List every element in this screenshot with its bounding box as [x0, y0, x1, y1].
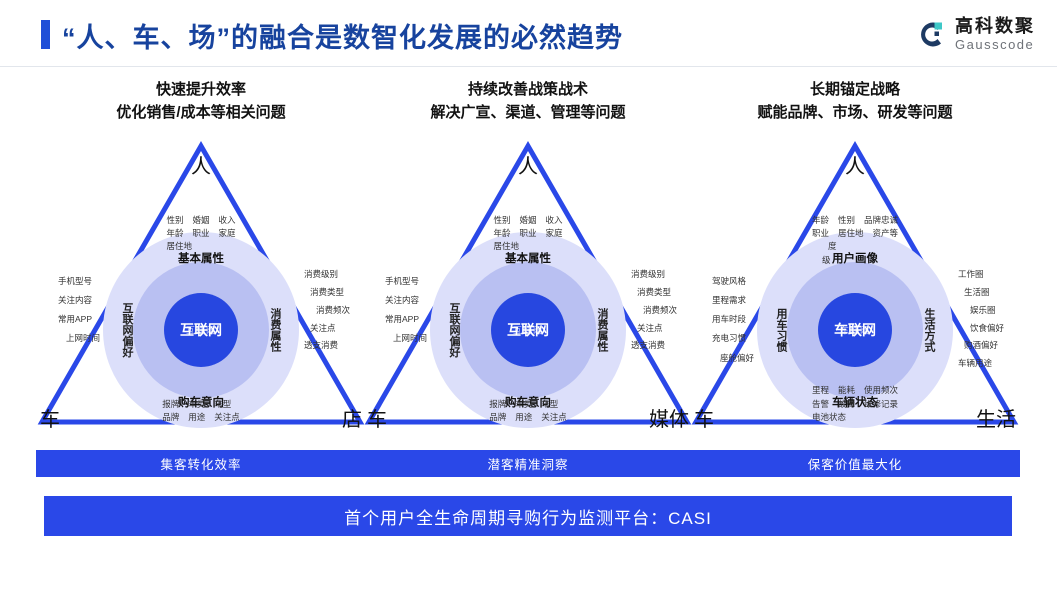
column-1-heading-line2: 优化销售/成本等相关问题: [36, 101, 366, 124]
sat-label: 娱乐圈: [970, 302, 1004, 320]
triangle-3-right-label: 生活: [976, 403, 1016, 432]
ring-right-label-2: 消费属性: [594, 308, 610, 352]
title-accent-bar: [41, 20, 50, 49]
triangle-1-left-label: 车: [40, 403, 60, 432]
triangle-3-apex-label: 人: [845, 150, 865, 179]
sat-label: 居住地: [166, 240, 192, 253]
sat-label: 里程: [812, 384, 829, 397]
sat-label: 品牌忠诚: [864, 214, 898, 227]
sat-label: 居住地: [838, 227, 864, 240]
sat-label: 性别: [493, 214, 510, 227]
brand-logo: 高科数聚 Gausscode: [915, 14, 1035, 54]
triangle-1-right-label: 店: [342, 403, 362, 432]
page-title: “人、车、场”的融合是数智化发展的必然趋势: [62, 16, 623, 55]
sat-label: 车类: [515, 398, 532, 411]
sat-label: 品牌: [489, 411, 506, 424]
column-3-heading: 长期锚定战略 赋能品牌、市场、研发等问题: [690, 78, 1020, 125]
sat-label: 消费类型: [310, 284, 350, 302]
column-3-triangle-diagram: 人 车 生活 车联网 车联网 用户画像 车辆状态 用车习惯 生活方式 年龄性别品…: [690, 136, 1020, 434]
satellite-right-3: 工作圈 生活圈 娱乐圈 饮食偏好 购酒偏好 车辆用途: [958, 266, 1004, 373]
sat-label: 车型: [214, 398, 231, 411]
sat-label: 饮食偏好: [970, 320, 1004, 338]
sat-label: 用途: [515, 411, 532, 424]
sat-label: 常用APP: [385, 310, 427, 329]
satellite-left-2: 手机型号 关注内容 常用APP 上网时间: [385, 272, 427, 349]
sat-label: 上网时间: [58, 329, 100, 348]
ring-right-label-3: 生活方式: [921, 308, 937, 352]
sat-label: 车型: [541, 398, 558, 411]
ring-core-label-2: 互联网: [507, 320, 549, 340]
sat-label: 职业: [192, 227, 209, 240]
sat-label: 车类: [188, 398, 205, 411]
sat-label: 购酒偏好: [964, 337, 1004, 355]
column-3: 长期锚定战略 赋能品牌、市场、研发等问题 人 车 生活 车联网 车联网 用户画像…: [690, 78, 1020, 125]
triangle-2-apex-label: 人: [518, 150, 538, 179]
sat-label: 报牌: [162, 398, 179, 411]
ring-core-label-3: 车联网: [834, 320, 876, 340]
column-1: 快速提升效率 优化销售/成本等相关问题 人 车 店 互联网 互联网 基本属性 购…: [36, 78, 366, 125]
sat-label: 故障: [838, 398, 855, 411]
triangle-1-apex-label: 人: [191, 150, 211, 179]
sat-label: 驾驶风格: [712, 272, 754, 291]
sat-label: 关注内容: [385, 291, 427, 310]
column-2-band: 潜客精准洞察: [363, 450, 693, 477]
satellite-bottom-1: 报牌车类车型 品牌用途关注点: [162, 398, 240, 424]
sat-label: 手机型号: [385, 272, 427, 291]
logo-chinese-name: 高科数聚: [955, 17, 1035, 35]
sat-label: 级: [822, 254, 831, 267]
sat-label: 消费类型: [637, 284, 677, 302]
satellite-top-2: 性别婚姻收入 年龄职业家庭 居住地: [493, 214, 562, 254]
ring-core-label-1: 互联网: [180, 320, 222, 340]
column-1-heading: 快速提升效率 优化销售/成本等相关问题: [36, 78, 366, 125]
column-1-triangle-diagram: 人 车 店 互联网 互联网 基本属性 购车意向 互联网偏好 消费属性 性别婚姻收…: [36, 136, 366, 434]
sat-label: 关注内容: [58, 291, 100, 310]
sat-label: 上网时间: [385, 329, 427, 348]
sat-label: 居住地: [493, 240, 519, 253]
column-2: 持续改善战策战术 解决广宣、渠道、管理等问题 人 车 媒体 互联网 互联网 基本…: [363, 78, 693, 125]
ring-left-label-2: 互联网偏好: [446, 303, 462, 358]
sat-label: 能耗: [838, 384, 855, 397]
sat-label: 用途: [188, 411, 205, 424]
triangle-2-left-label: 车: [367, 403, 387, 432]
ring-right-label-1: 消费属性: [267, 308, 283, 352]
satellite-right-2: 消费级别 消费类型 消费频次 关注点 透支消费: [631, 266, 677, 355]
sat-label: 手机型号: [58, 272, 100, 291]
column-3-heading-line2: 赋能品牌、市场、研发等问题: [690, 101, 1020, 124]
sat-label: 消费频次: [643, 302, 677, 320]
header-divider: [0, 66, 1057, 67]
sat-label: 收入: [546, 214, 563, 227]
sat-label: 用车时段: [712, 310, 754, 329]
column-3-heading-line1: 长期锚定战略: [690, 78, 1020, 101]
sat-label: 里程需求: [712, 291, 754, 310]
sat-label: 消费级别: [631, 266, 677, 284]
sat-label: 关注点: [214, 411, 240, 424]
column-2-heading: 持续改善战策战术 解决广宣、渠道、管理等问题: [363, 78, 693, 125]
sat-label: 透支消费: [304, 337, 350, 355]
column-1-heading-line1: 快速提升效率: [36, 78, 366, 101]
sat-label: 家庭: [219, 227, 236, 240]
sat-label: 关注点: [637, 320, 677, 338]
sat-label: 年龄: [166, 227, 183, 240]
logo-mark-icon: [915, 18, 948, 51]
sat-label: 婚姻: [192, 214, 209, 227]
sat-label: 消费级别: [304, 266, 350, 284]
satellite-top-1: 性别婚姻收入 年龄职业家庭 居住地: [166, 214, 235, 254]
logo-text: 高科数聚 Gausscode: [955, 17, 1035, 51]
satellite-bottom-2: 报牌车类车型 品牌用途关注点: [489, 398, 567, 424]
sat-label: 资产等: [873, 227, 899, 240]
column-2-heading-line1: 持续改善战策战术: [363, 78, 693, 101]
triangle-3-left-label: 车: [694, 403, 714, 432]
sat-label: 婚姻: [519, 214, 536, 227]
sat-label: 收入: [219, 214, 236, 227]
ring-left-label-1: 互联网偏好: [119, 303, 135, 358]
sat-label: 工作圈: [958, 266, 1004, 284]
sat-label: 车辆用途: [958, 355, 1004, 373]
satellite-bottom-3: 里程能耗使用频次 告警故障维修记录 电池状态: [812, 384, 898, 424]
sat-label: 家庭: [546, 227, 563, 240]
sat-label: 性别: [838, 214, 855, 227]
sat-label: 生活圈: [964, 284, 1004, 302]
sat-label: 职业: [812, 227, 829, 240]
sat-label: 关注点: [541, 411, 567, 424]
logo-english-name: Gausscode: [955, 38, 1035, 51]
sat-label: 年龄: [493, 227, 510, 240]
sat-label: 使用频次: [864, 384, 898, 397]
sat-label: 维修记录: [864, 398, 898, 411]
sat-label: 性别: [166, 214, 183, 227]
sat-label: 消费频次: [316, 302, 350, 320]
sat-label: 报牌: [489, 398, 506, 411]
satellite-top-3: 年龄性别品牌忠诚 职业居住地资产等 度 级: [812, 214, 898, 267]
sat-label: 年龄: [812, 214, 829, 227]
sat-label: 常用APP: [58, 310, 100, 329]
column-2-heading-line2: 解决广宣、渠道、管理等问题: [363, 101, 693, 124]
sat-label: 告警: [812, 398, 829, 411]
sat-label: 电池状态: [812, 411, 846, 424]
platform-footer-bar: 首个用户全生命周期寻购行为监测平台：CASI: [44, 496, 1012, 536]
triangle-2-right-label: 媒体: [649, 403, 689, 432]
satellite-left-3: 驾驶风格 里程需求 用车时段 充电习惯 座舱偏好: [712, 272, 754, 368]
sat-label: 度: [828, 240, 837, 253]
sat-label: 座舱偏好: [712, 349, 754, 368]
column-3-band: 保客价值最大化: [690, 450, 1020, 477]
page-header: “人、车、场”的融合是数智化发展的必然趋势 高科数聚 Gausscode: [0, 0, 1057, 66]
column-1-band: 集客转化效率: [36, 450, 366, 477]
sat-label: 透支消费: [631, 337, 677, 355]
sat-label: 关注点: [310, 320, 350, 338]
satellite-right-1: 消费级别 消费类型 消费频次 关注点 透支消费: [304, 266, 350, 355]
sat-label: 品牌: [162, 411, 179, 424]
satellite-left-1: 手机型号 关注内容 常用APP 上网时间: [58, 272, 100, 349]
sat-label: 充电习惯: [712, 329, 754, 348]
sat-label: 职业: [519, 227, 536, 240]
column-2-triangle-diagram: 人 车 媒体 互联网 互联网 基本属性 购车意向 互联网偏好 消费属性 性别婚姻…: [363, 136, 693, 434]
ring-left-label-3: 用车习惯: [773, 308, 789, 352]
